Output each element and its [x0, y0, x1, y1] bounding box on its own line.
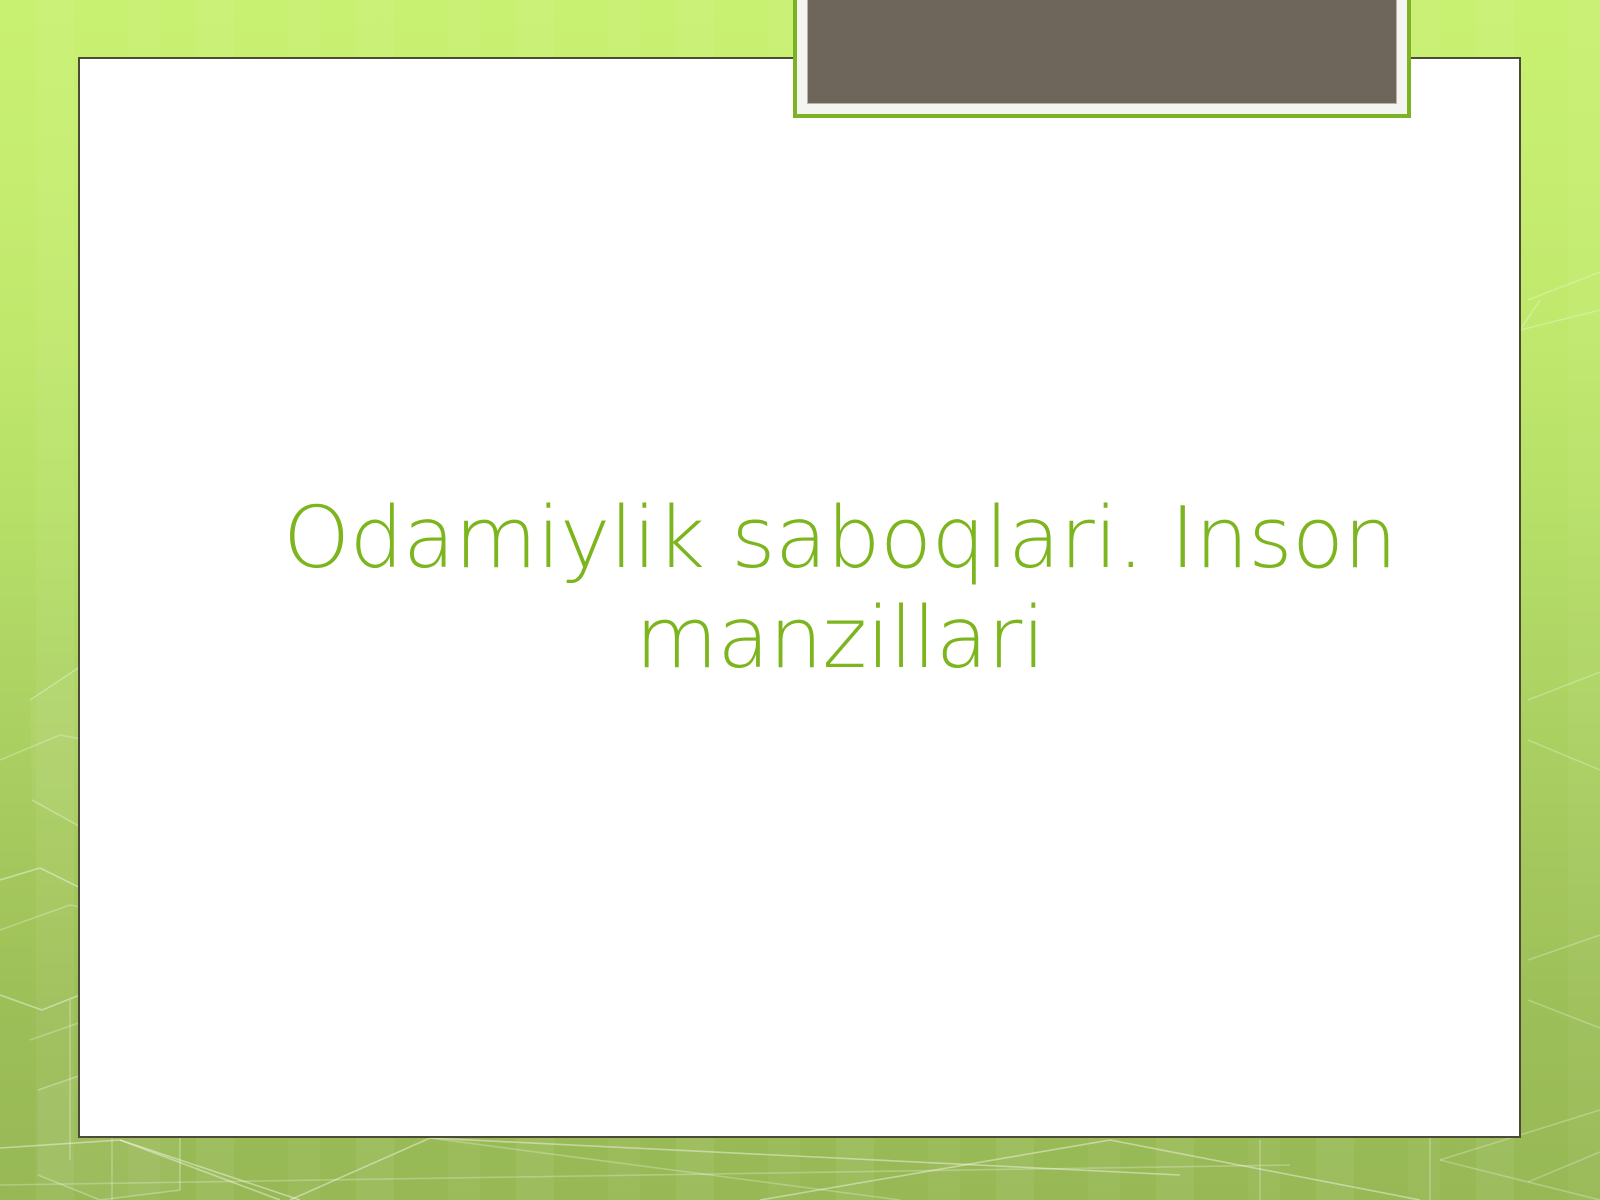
picture-placeholder-frame[interactable]	[793, 0, 1411, 118]
picture-placeholder-image	[807, 0, 1397, 104]
slide-title: Odamiylik saboqlari. Inson manzillari	[230, 489, 1450, 690]
title-placeholder[interactable]: Odamiylik saboqlari. Inson manzillari	[230, 489, 1450, 690]
slide-content-panel: Odamiylik saboqlari. Inson manzillari	[78, 57, 1521, 1138]
slide-canvas: Odamiylik saboqlari. Inson manzillari	[0, 0, 1600, 1200]
